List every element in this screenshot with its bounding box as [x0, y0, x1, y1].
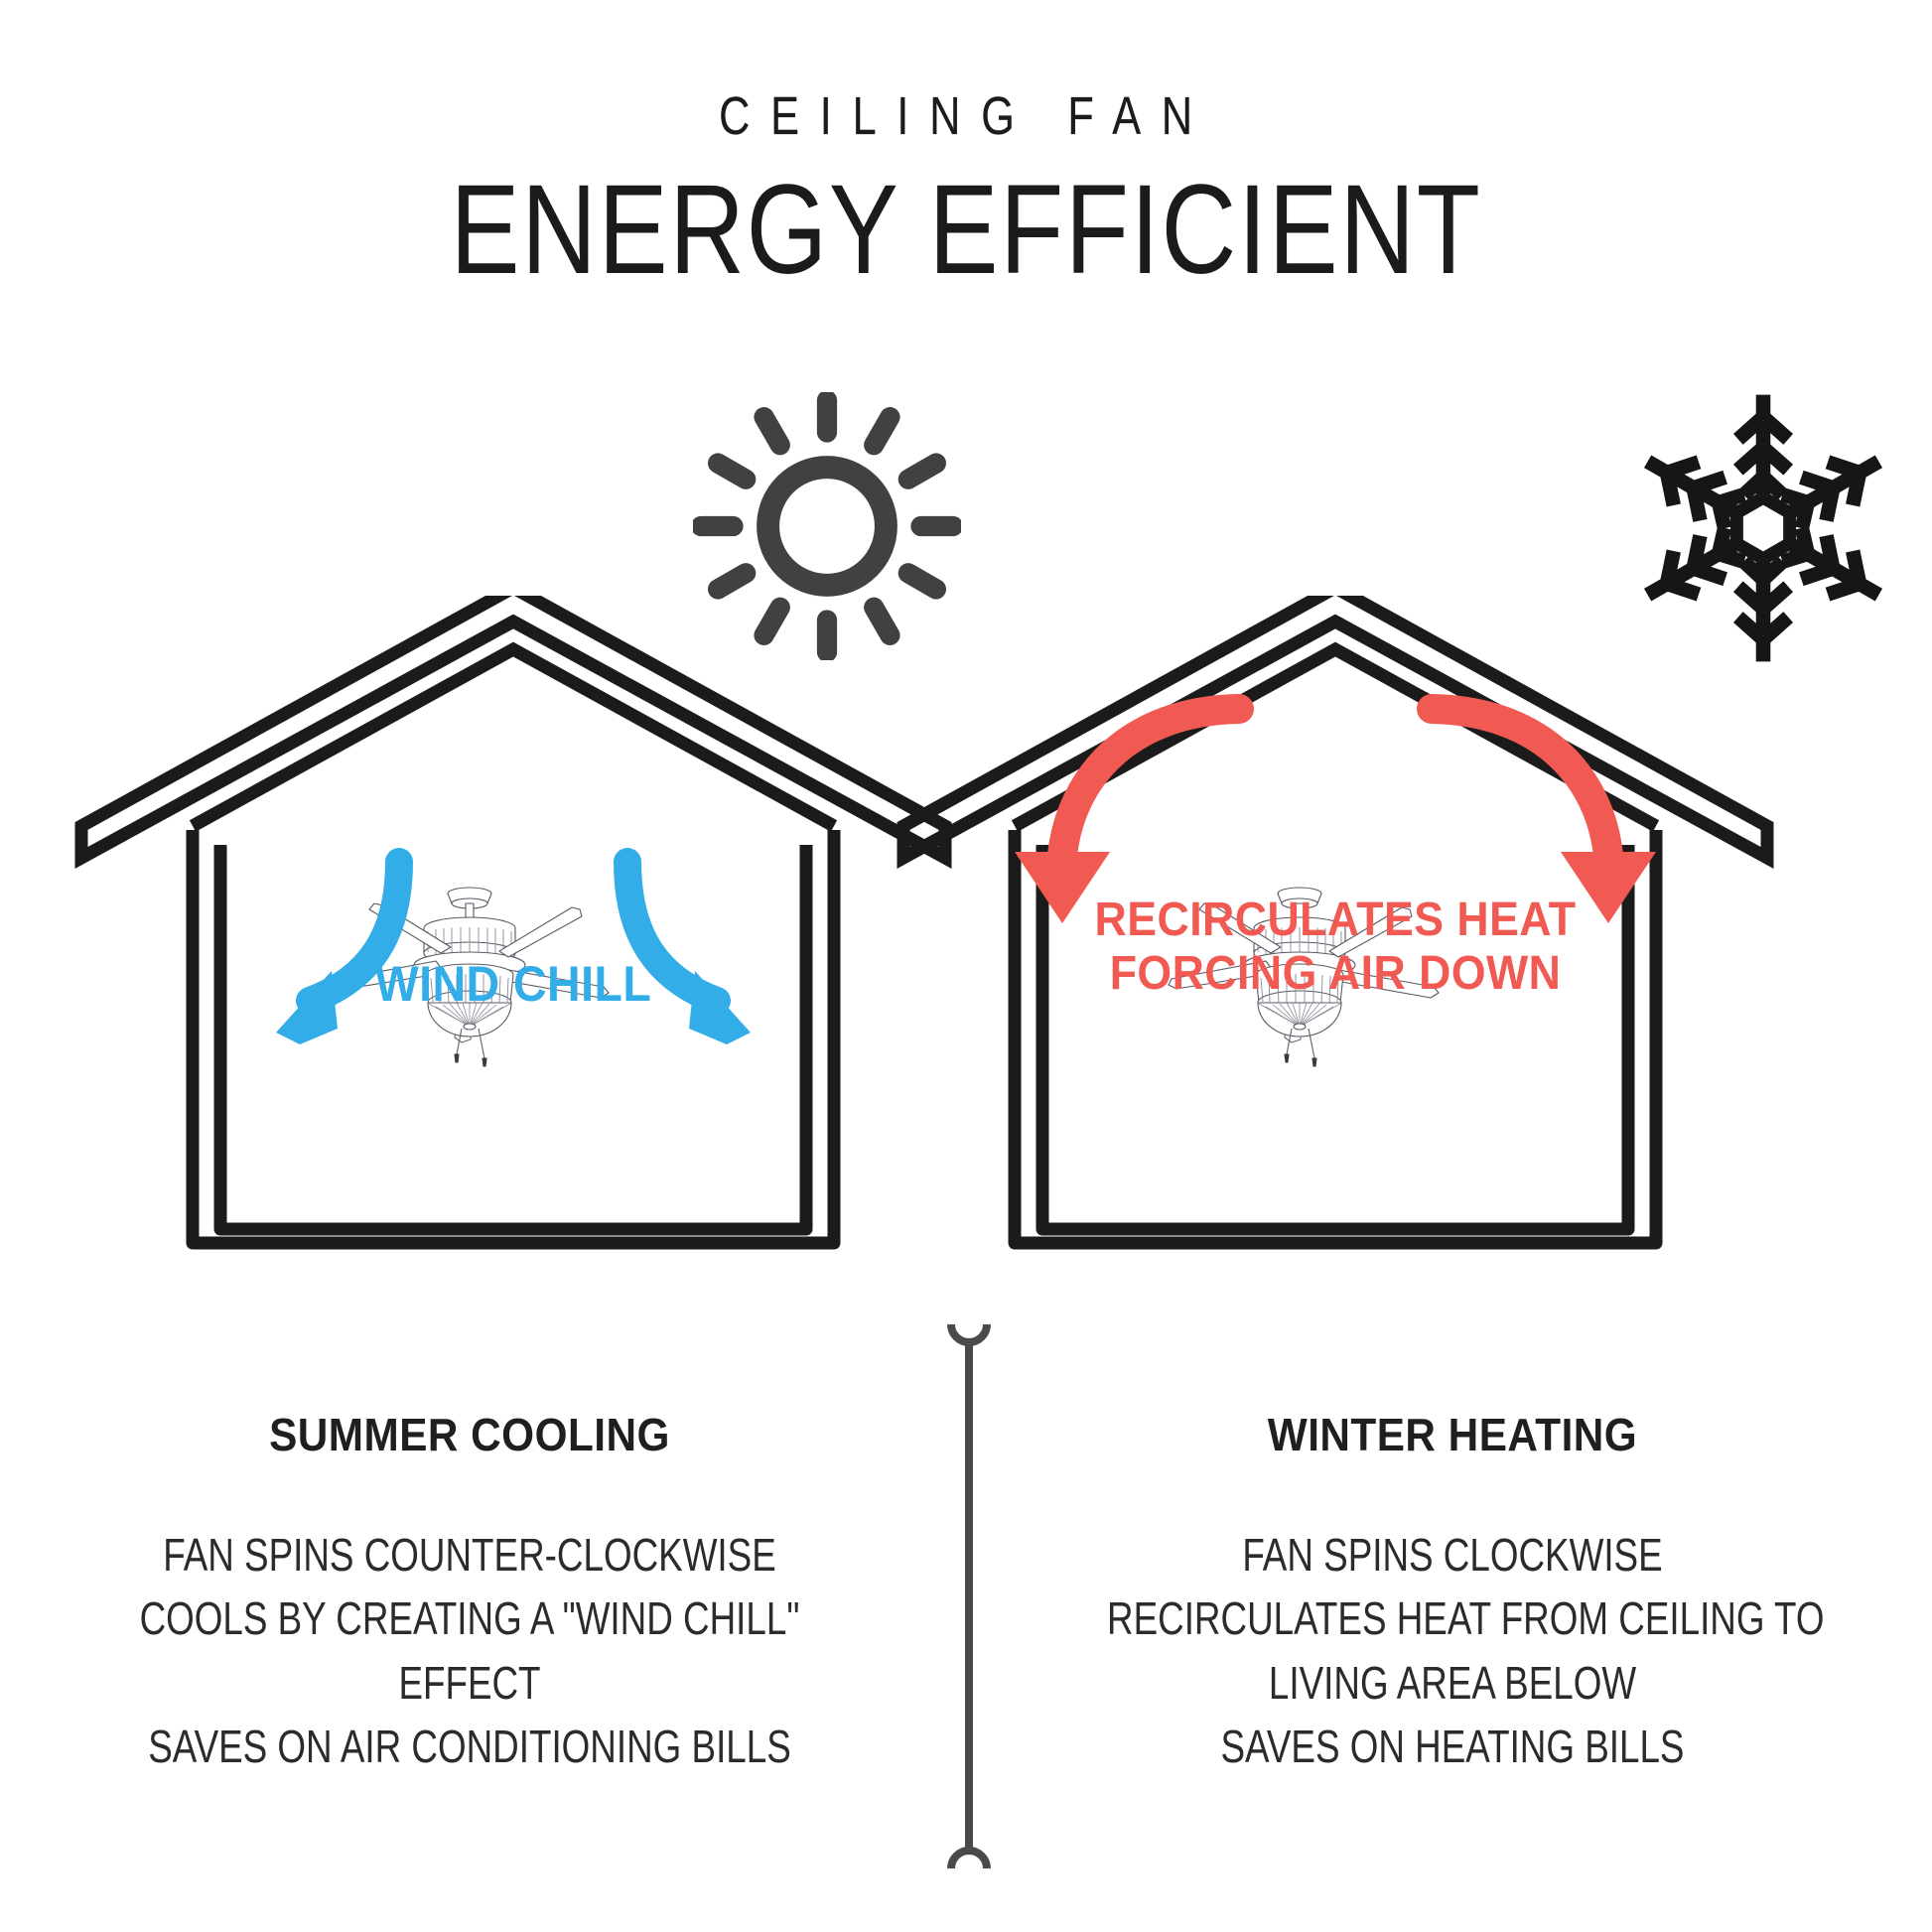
summer-body-line-4: SAVES ON AIR CONDITIONING BILLS	[124, 1715, 815, 1778]
summer-text-column: SUMMER COOLING FAN SPINS COUNTER-CLOCKWI…	[38, 1408, 901, 1779]
flow-label-winter-line1: RECIRCULATES HEAT	[924, 894, 1746, 947]
page-title: ENERGY EFFICIENT	[174, 167, 1758, 294]
header: CEILING FAN ENERGY EFFICIENT	[0, 0, 1932, 294]
summer-column-body: FAN SPINS COUNTER-CLOCKWISE COOLS BY CRE…	[38, 1523, 901, 1779]
airflow-arrows-summer	[71, 596, 955, 1311]
infographic-page: CEILING FAN ENERGY EFFICIENT	[0, 0, 1932, 1932]
winter-body-line-4: SAVES ON HEATING BILLS	[1107, 1715, 1798, 1778]
summer-column-title: SUMMER COOLING	[72, 1408, 867, 1461]
summer-panel: WIND CHILL	[71, 596, 955, 1311]
summer-body-line-2: COOLS BY CREATING A "WIND CHILL"	[124, 1587, 815, 1650]
winter-body-line-1: FAN SPINS CLOCKWISE	[1107, 1523, 1798, 1587]
page-kicker: CEILING FAN	[194, 85, 1739, 147]
winter-body-line-3: LIVING AREA BELOW	[1107, 1651, 1798, 1715]
flow-label-winter: RECIRCULATES HEAT FORCING AIR DOWN	[924, 894, 1746, 1001]
winter-column-body: FAN SPINS CLOCKWISE RECIRCULATES HEAT FR…	[1021, 1523, 1884, 1779]
flow-label-summer: WIND CHILL	[102, 956, 924, 1012]
winter-text-column: WINTER HEATING FAN SPINS CLOCKWISE RECIR…	[1021, 1408, 1884, 1779]
flow-label-winter-line2: FORCING AIR DOWN	[924, 947, 1746, 1001]
divider-line	[941, 1318, 997, 1874]
summer-body-line-1: FAN SPINS COUNTER-CLOCKWISE	[124, 1523, 815, 1587]
winter-column-title: WINTER HEATING	[1055, 1408, 1850, 1461]
winter-body-line-2: RECIRCULATES HEAT FROM CEILING TO	[1107, 1587, 1798, 1650]
summer-body-line-3: EFFECT	[124, 1651, 815, 1715]
flow-label-summer-line1: WIND CHILL	[102, 956, 924, 1012]
winter-panel: RECIRCULATES HEAT FORCING AIR DOWN	[894, 596, 1777, 1311]
